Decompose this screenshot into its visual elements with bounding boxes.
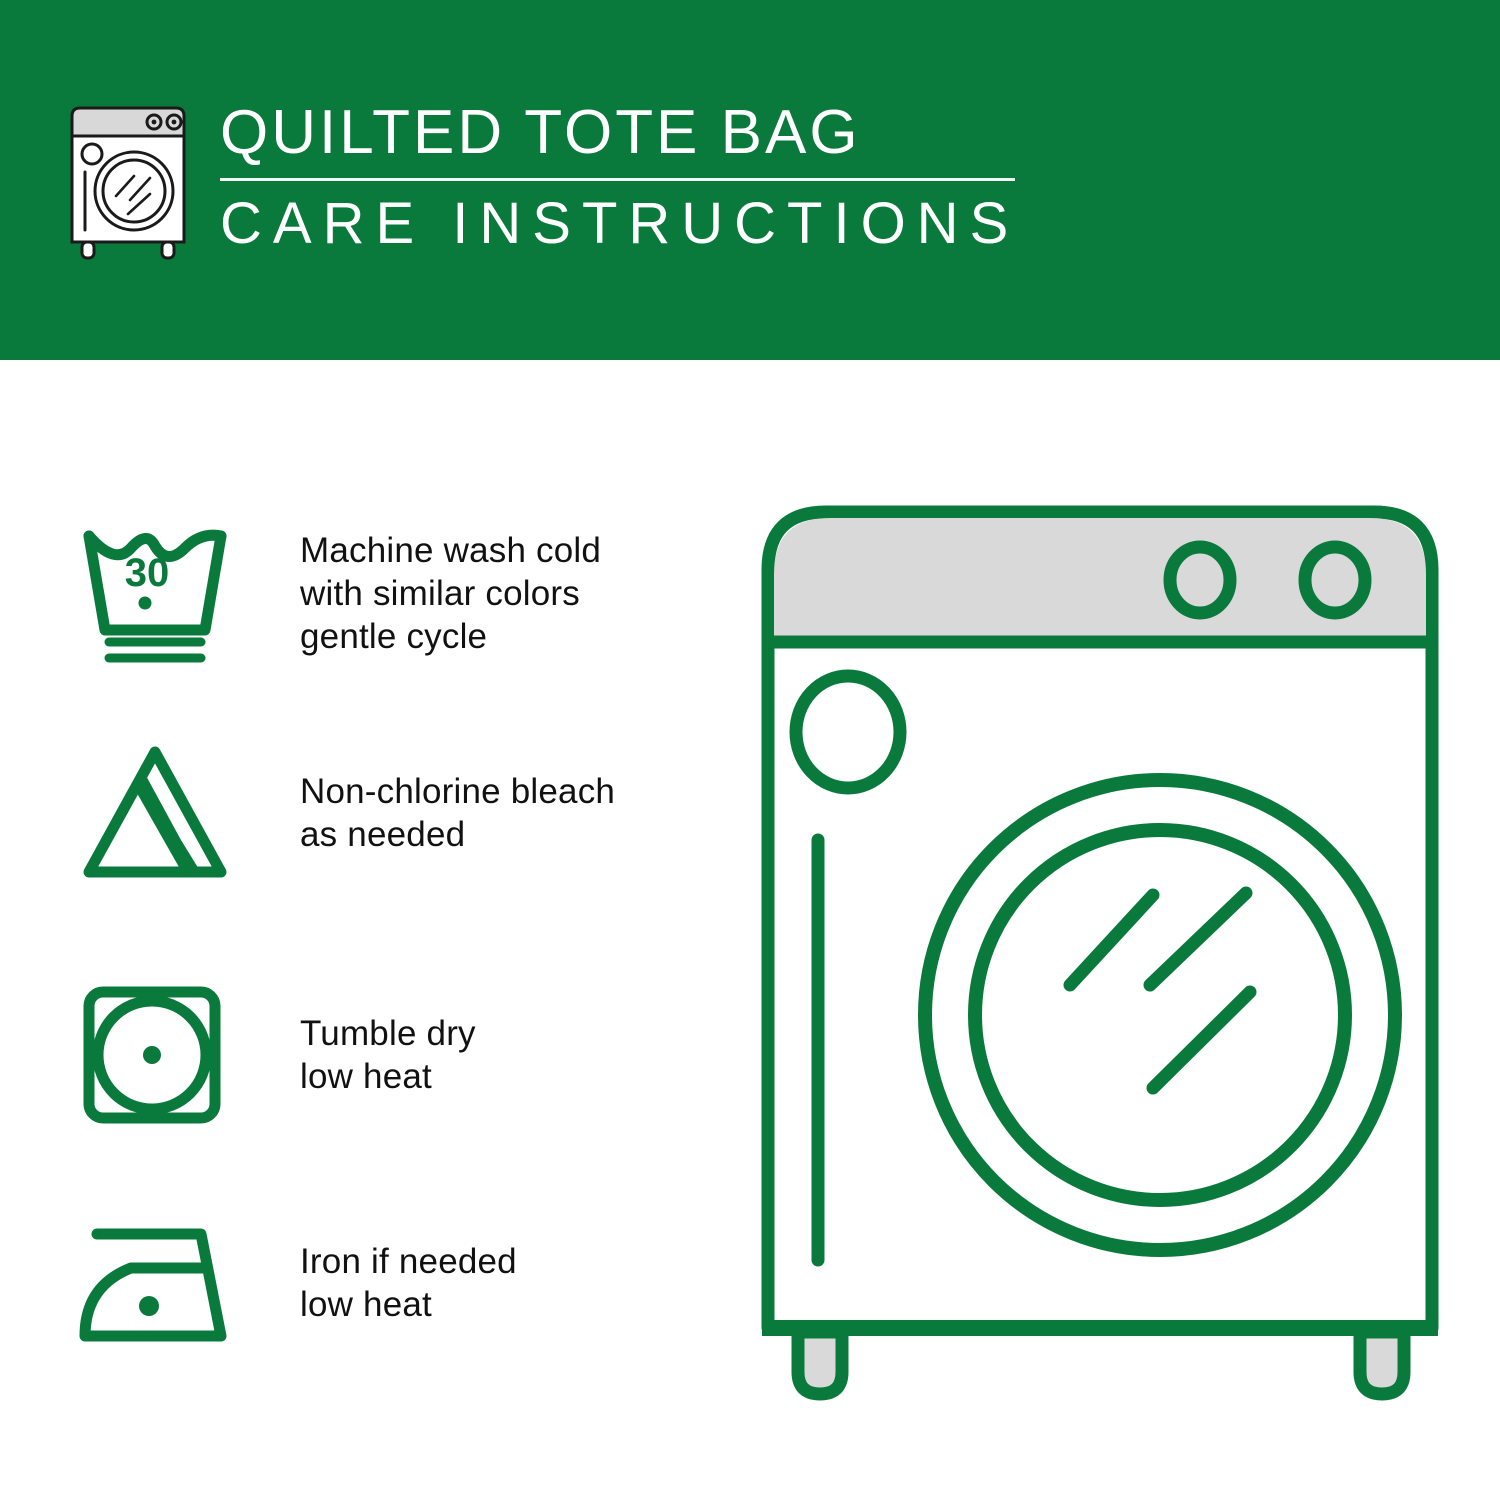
header-banner: QUILTED TOTE BAG CARE INSTRUCTIONS xyxy=(0,0,1500,360)
non-chlorine-bleach-icon xyxy=(75,738,235,888)
page-subtitle: CARE INSTRUCTIONS xyxy=(218,189,1019,259)
title-divider xyxy=(220,178,1015,181)
knob-right xyxy=(1305,547,1365,613)
care-instruction-text: Tumble dry low heat xyxy=(300,1012,476,1098)
title-block: QUILTED TOTE BAG CARE INSTRUCTIONS xyxy=(218,96,1019,259)
leg-left xyxy=(798,1332,842,1394)
washing-machine-logo-icon xyxy=(62,96,194,264)
care-instruction-text: Non-chlorine bleach as needed xyxy=(300,770,615,856)
dispenser-circle xyxy=(796,676,900,788)
front-load-washing-machine-illustration xyxy=(740,470,1460,1430)
care-instruction-text: Machine wash cold with similar colors ge… xyxy=(300,529,601,658)
machine-wash-30-gentle-icon: 30 xyxy=(75,518,235,668)
care-instructions-list: 30 Machine wash cold with similar colors… xyxy=(0,360,740,1500)
header-content: QUILTED TOTE BAG CARE INSTRUCTIONS xyxy=(62,96,1019,264)
care-row: 30 Machine wash cold with similar colors… xyxy=(75,518,715,668)
care-instruction-text: Iron if needed low heat xyxy=(300,1240,517,1326)
tumble-dry-low-icon xyxy=(75,980,235,1130)
page-title: QUILTED TOTE BAG xyxy=(218,96,1019,170)
knob-left xyxy=(1170,547,1230,613)
leg-right xyxy=(1360,1332,1404,1394)
care-row: Non-chlorine bleach as needed xyxy=(75,738,715,888)
care-row: Tumble dry low heat xyxy=(75,980,715,1130)
door-inner-ring xyxy=(975,830,1345,1200)
care-row: Iron if needed low heat xyxy=(75,1208,715,1358)
wash-temperature-label: 30 xyxy=(125,551,170,595)
iron-low-heat-icon xyxy=(75,1208,235,1358)
